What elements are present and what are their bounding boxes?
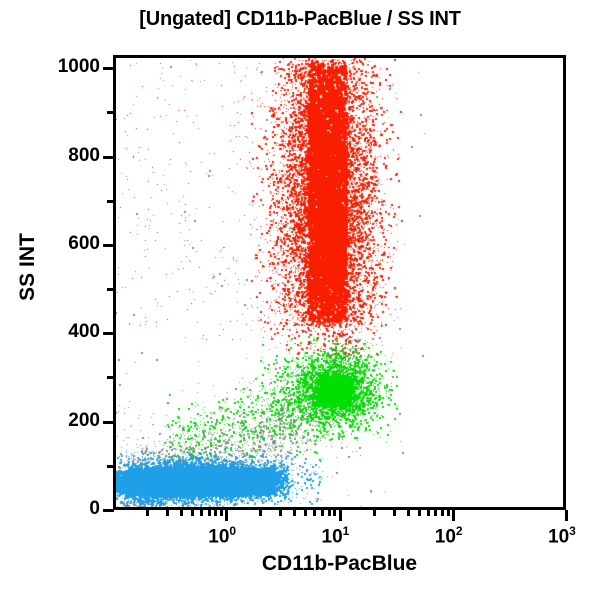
x-tick-label: 100 [208, 524, 236, 548]
x-minor-tick-mark [373, 510, 376, 516]
x-minor-tick-mark [447, 510, 450, 516]
y-tick-label: 1000 [34, 56, 100, 78]
x-minor-tick-mark [259, 510, 262, 516]
x-tick-label: 103 [548, 524, 576, 548]
x-tick-mark [339, 510, 342, 521]
x-minor-tick-mark [200, 510, 203, 516]
x-minor-tick-mark [407, 510, 410, 516]
x-axis-title: CD11b-PacBlue [113, 552, 566, 576]
y-tick-label: 600 [34, 233, 100, 255]
x-minor-tick-mark [214, 510, 217, 516]
y-minor-tick-mark [107, 111, 114, 114]
flow-cytometry-scatter-plot: [Ungated] CD11b-PacBlue / SS INT SS INT … [0, 0, 600, 600]
x-minor-tick-mark [146, 510, 149, 516]
x-minor-tick-mark [279, 510, 282, 516]
y-tick-label: 800 [34, 145, 100, 167]
x-minor-tick-mark [328, 510, 331, 516]
y-tick-label: 0 [34, 498, 100, 520]
x-minor-tick-mark [220, 510, 223, 516]
x-minor-tick-mark [180, 510, 183, 516]
y-minor-tick-mark [107, 288, 114, 291]
x-minor-tick-mark [191, 510, 194, 516]
x-minor-tick-mark [293, 510, 296, 516]
x-minor-tick-mark [393, 510, 396, 516]
x-minor-tick-mark [208, 510, 211, 516]
x-tick-label: 101 [322, 524, 350, 548]
x-minor-tick-mark [427, 510, 430, 516]
x-tick-label: 102 [435, 524, 463, 548]
x-minor-tick-mark [321, 510, 324, 516]
y-tick-label: 400 [34, 321, 100, 343]
x-tick-mark [452, 510, 455, 521]
y-minor-tick-mark [107, 376, 114, 379]
y-tick-mark [103, 244, 114, 247]
x-minor-tick-mark [418, 510, 421, 516]
x-minor-tick-mark [434, 510, 437, 516]
x-minor-tick-mark [166, 510, 169, 516]
y-tick-mark [103, 332, 114, 335]
plot-title: [Ungated] CD11b-PacBlue / SS INT [0, 8, 600, 31]
x-minor-tick-mark [304, 510, 307, 516]
x-tick-mark [565, 510, 568, 521]
y-minor-tick-mark [107, 200, 114, 203]
y-tick-label: 200 [34, 410, 100, 432]
x-minor-tick-mark [333, 510, 336, 516]
y-tick-mark [103, 156, 114, 159]
x-minor-tick-mark [441, 510, 444, 516]
x-minor-tick-mark [313, 510, 316, 516]
x-tick-mark [225, 510, 228, 521]
y-tick-mark [103, 67, 114, 70]
y-tick-mark [103, 421, 114, 424]
scatter-canvas [116, 58, 563, 507]
y-tick-mark [103, 509, 114, 512]
y-minor-tick-mark [107, 465, 114, 468]
y-axis-title: SS INT [16, 207, 40, 327]
